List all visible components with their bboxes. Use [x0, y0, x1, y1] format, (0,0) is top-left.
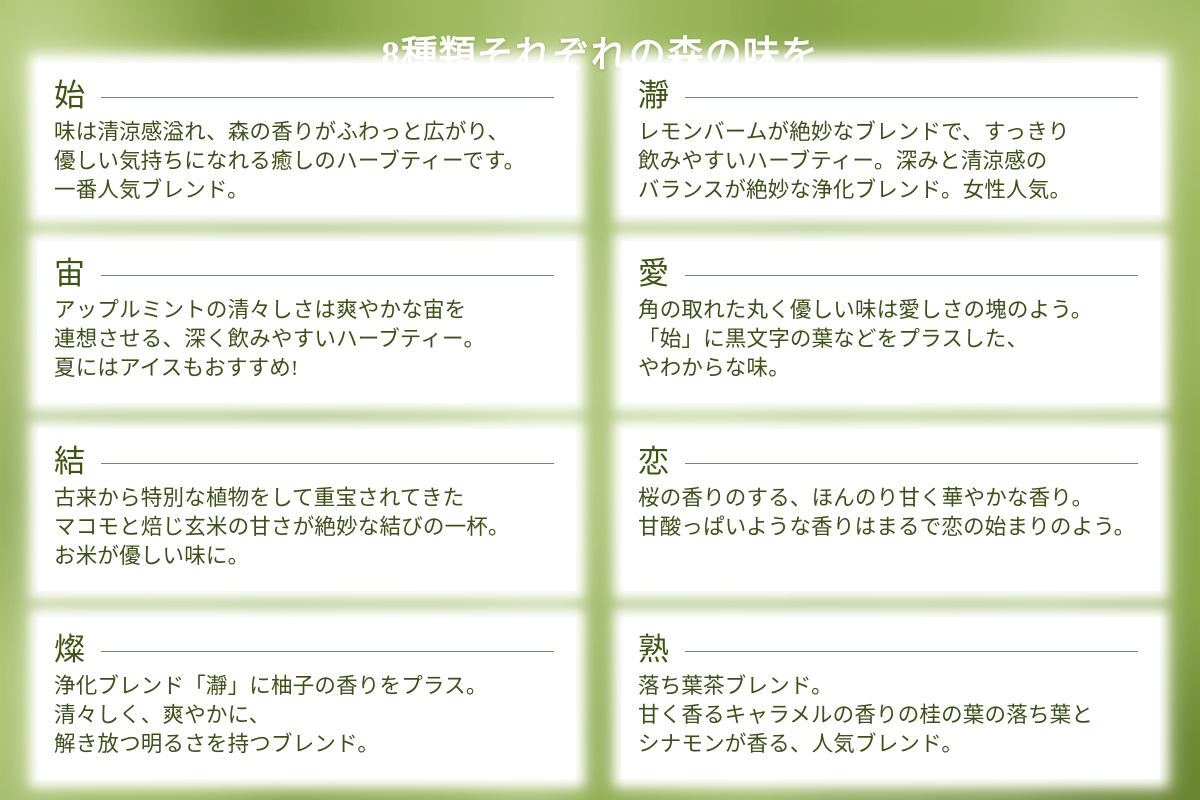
description-line: バランスが絶妙な浄化ブレンド。女性人気。 [638, 176, 1144, 205]
blend-card-header: 愛 [638, 251, 1144, 295]
description-line: 古来から特別な植物をして重宝されてきた [54, 484, 560, 513]
blend-description: レモンバームが絶妙なブレンドで、すっきり飲みやすいハーブティー。深みと清涼感のバ… [638, 118, 1144, 204]
blend-name-kanji: 宙 [54, 258, 101, 289]
header-divider-rule [101, 463, 554, 464]
description-line: 浄化ブレンド「瀞」に柚子の香りをプラス。 [54, 672, 560, 701]
blend-card-header: 始 [54, 73, 560, 117]
header-divider-rule [101, 651, 554, 652]
blend-card-header: 宙 [54, 251, 560, 295]
blend-description: 古来から特別な植物をして重宝されてきたマコモと焙じ玄米の甘さが絶妙な結びの一杯。… [54, 484, 560, 570]
blend-card-header: 恋 [638, 439, 1144, 483]
blend-name-kanji: 恋 [638, 446, 685, 477]
description-line: やわからな味。 [638, 354, 1144, 383]
description-line: 落ち葉茶ブレンド。 [638, 672, 1144, 701]
header-divider-rule [685, 463, 1138, 464]
description-line: 「始」に黒文字の葉などをプラスした、 [638, 325, 1144, 354]
description-line: 一番人気ブレンド。 [54, 176, 560, 205]
blend-name-kanji: 愛 [638, 258, 685, 289]
description-line: 優しい気持ちになれる癒しのハーブティーです。 [54, 147, 560, 176]
blend-description: アップルミントの清々しさは爽やかな宙を連想させる、深く飲みやすいハーブティー。夏… [54, 296, 560, 382]
blend-card: 恋桜の香りのする、ほんのり甘く華やかな香り。甘酸っぱいような香りはまるで恋の始ま… [622, 429, 1160, 591]
description-line: アップルミントの清々しさは爽やかな宙を [54, 296, 560, 325]
description-line: 解き放つ明るさを持つブレンド。 [54, 730, 560, 759]
header-divider-rule [685, 97, 1138, 98]
description-line: レモンバームが絶妙なブレンドで、すっきり [638, 118, 1144, 147]
blend-card: 始味は清涼感溢れ、森の香りがふわっと広がり、優しい気持ちになれる癒しのハーブティ… [38, 63, 576, 215]
blend-card: 熟落ち葉茶ブレンド。甘く香るキャラメルの香りの桂の葉の落ち葉とシナモンが香る、人… [622, 617, 1160, 779]
blend-description: 味は清涼感溢れ、森の香りがふわっと広がり、優しい気持ちになれる癒しのハーブティー… [54, 118, 560, 204]
blend-card-grid: 始味は清涼感溢れ、森の香りがふわっと広がり、優しい気持ちになれる癒しのハーブティ… [38, 63, 1160, 763]
blend-name-kanji: 瀞 [638, 80, 685, 111]
blend-card: 瀞レモンバームが絶妙なブレンドで、すっきり飲みやすいハーブティー。深みと清涼感の… [622, 63, 1160, 215]
blend-description: 角の取れた丸く優しい味は愛しさの塊のよう。「始」に黒文字の葉などをプラスした、や… [638, 296, 1144, 382]
blend-name-kanji: 燦 [54, 634, 101, 665]
description-line: 連想させる、深く飲みやすいハーブティー。 [54, 325, 560, 354]
description-line: 甘く香るキャラメルの香りの桂の葉の落ち葉と [638, 701, 1144, 730]
blend-description: 桜の香りのする、ほんのり甘く華やかな香り。甘酸っぱいような香りはまるで恋の始まり… [638, 484, 1144, 542]
blend-card: 結古来から特別な植物をして重宝されてきたマコモと焙じ玄米の甘さが絶妙な結びの一杯… [38, 429, 576, 591]
blend-card: 愛角の取れた丸く優しい味は愛しさの塊のよう。「始」に黒文字の葉などをプラスした、… [622, 241, 1160, 403]
description-line: 桜の香りのする、ほんのり甘く華やかな香り。 [638, 484, 1144, 513]
header-divider-rule [685, 651, 1138, 652]
description-line: 清々しく、爽やかに、 [54, 701, 560, 730]
blend-card: 宙アップルミントの清々しさは爽やかな宙を連想させる、深く飲みやすいハーブティー。… [38, 241, 576, 403]
blend-card-header: 燦 [54, 627, 560, 671]
blend-card: 燦浄化ブレンド「瀞」に柚子の香りをプラス。清々しく、爽やかに、解き放つ明るさを持… [38, 617, 576, 779]
blend-description: 落ち葉茶ブレンド。甘く香るキャラメルの香りの桂の葉の落ち葉とシナモンが香る、人気… [638, 672, 1144, 758]
poster-stage: 8種類それぞれの森の味を 始味は清涼感溢れ、森の香りがふわっと広がり、優しい気持… [0, 0, 1200, 800]
header-divider-rule [685, 275, 1138, 276]
description-line: 夏にはアイスもおすすめ! [54, 354, 560, 383]
blend-card-header: 熟 [638, 627, 1144, 671]
description-line: 味は清涼感溢れ、森の香りがふわっと広がり、 [54, 118, 560, 147]
description-line: 飲みやすいハーブティー。深みと清涼感の [638, 147, 1144, 176]
blend-card-header: 瀞 [638, 73, 1144, 117]
description-line: 角の取れた丸く優しい味は愛しさの塊のよう。 [638, 296, 1144, 325]
blend-description: 浄化ブレンド「瀞」に柚子の香りをプラス。清々しく、爽やかに、解き放つ明るさを持つ… [54, 672, 560, 758]
header-divider-rule [101, 275, 554, 276]
header-divider-rule [101, 97, 554, 98]
blend-name-kanji: 熟 [638, 634, 685, 665]
blend-name-kanji: 始 [54, 80, 101, 111]
description-line: 甘酸っぱいような香りはまるで恋の始まりのよう。 [638, 513, 1144, 542]
description-line: シナモンが香る、人気ブレンド。 [638, 730, 1144, 759]
blend-name-kanji: 結 [54, 446, 101, 477]
description-line: マコモと焙じ玄米の甘さが絶妙な結びの一杯。 [54, 513, 560, 542]
blend-card-header: 結 [54, 439, 560, 483]
description-line: お米が優しい味に。 [54, 542, 560, 571]
